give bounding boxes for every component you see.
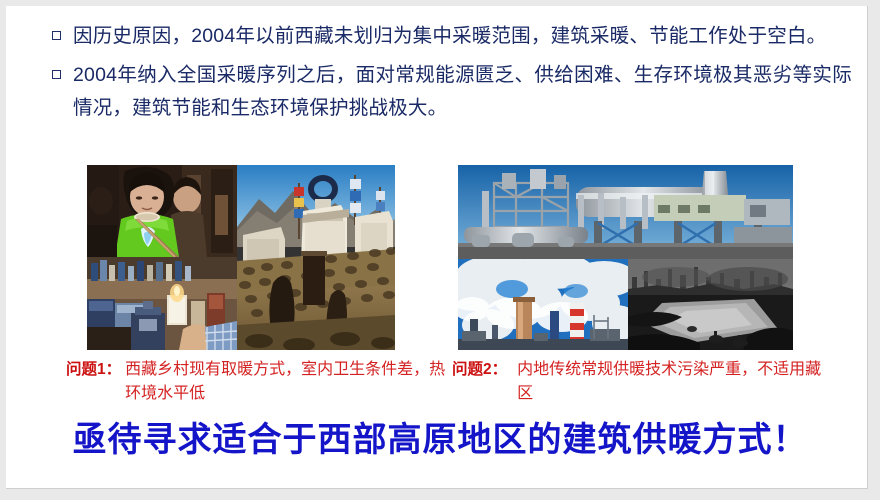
bullet-item-1: 因历史原因，2004年以前西藏未划归为集中采暖范围，建筑采暖、节能工作处于空白。	[52, 20, 852, 53]
caption-right: 问题2： 内地传统常规供暖技术污染严重，不适用藏区	[452, 358, 822, 406]
tibet-rural-heating-photos	[87, 165, 395, 350]
photo-smokestacks-emitting-smoke	[458, 259, 628, 350]
caption-right-label: 问题2：	[452, 358, 507, 382]
photo-polluted-wasteland	[628, 259, 793, 350]
bullet-list: 因历史原因，2004年以前西藏未划归为集中采暖范围，建筑采暖、节能工作处于空白。…	[52, 20, 852, 131]
photo-industrial-heating-plant	[458, 165, 793, 259]
photo-tibetan-woman-indoor	[87, 165, 237, 257]
bullet-item-2: 2004年纳入全国采暖序列之后，面对常规能源匮乏、供给困难、生存环境极其恶劣等实…	[52, 59, 852, 125]
presentation-slide: 因历史原因，2004年以前西藏未划归为集中采暖范围，建筑采暖、节能工作处于空白。…	[0, 0, 880, 500]
hollow-square-bullet-icon	[52, 31, 61, 40]
caption-left: 问题1： 西藏乡村现有取暖方式，室内卫生条件差，热环境水平低	[66, 358, 446, 406]
photo-tibetan-village-houses	[237, 165, 395, 350]
conclusion-headline: 亟待寻求适合于西部高原地区的建筑供暖方式！	[0, 417, 880, 463]
caption-left-text: 西藏乡村现有取暖方式，室内卫生条件差，热环境水平低	[125, 358, 446, 406]
bullet-item-2-text: 2004年纳入全国采暖序列之后，面对常规能源匮乏、供给困难、生存环境极其恶劣等实…	[73, 59, 852, 125]
caption-left-label: 问题1：	[66, 358, 121, 382]
hollow-square-bullet-icon	[52, 70, 61, 79]
conventional-heating-pollution-photos	[458, 165, 793, 350]
caption-right-text: 内地传统常规供暖技术污染严重，不适用藏区	[517, 358, 822, 406]
photo-rural-interior-supplies	[87, 257, 237, 350]
bullet-item-1-text: 因历史原因，2004年以前西藏未划归为集中采暖范围，建筑采暖、节能工作处于空白。	[73, 20, 852, 53]
